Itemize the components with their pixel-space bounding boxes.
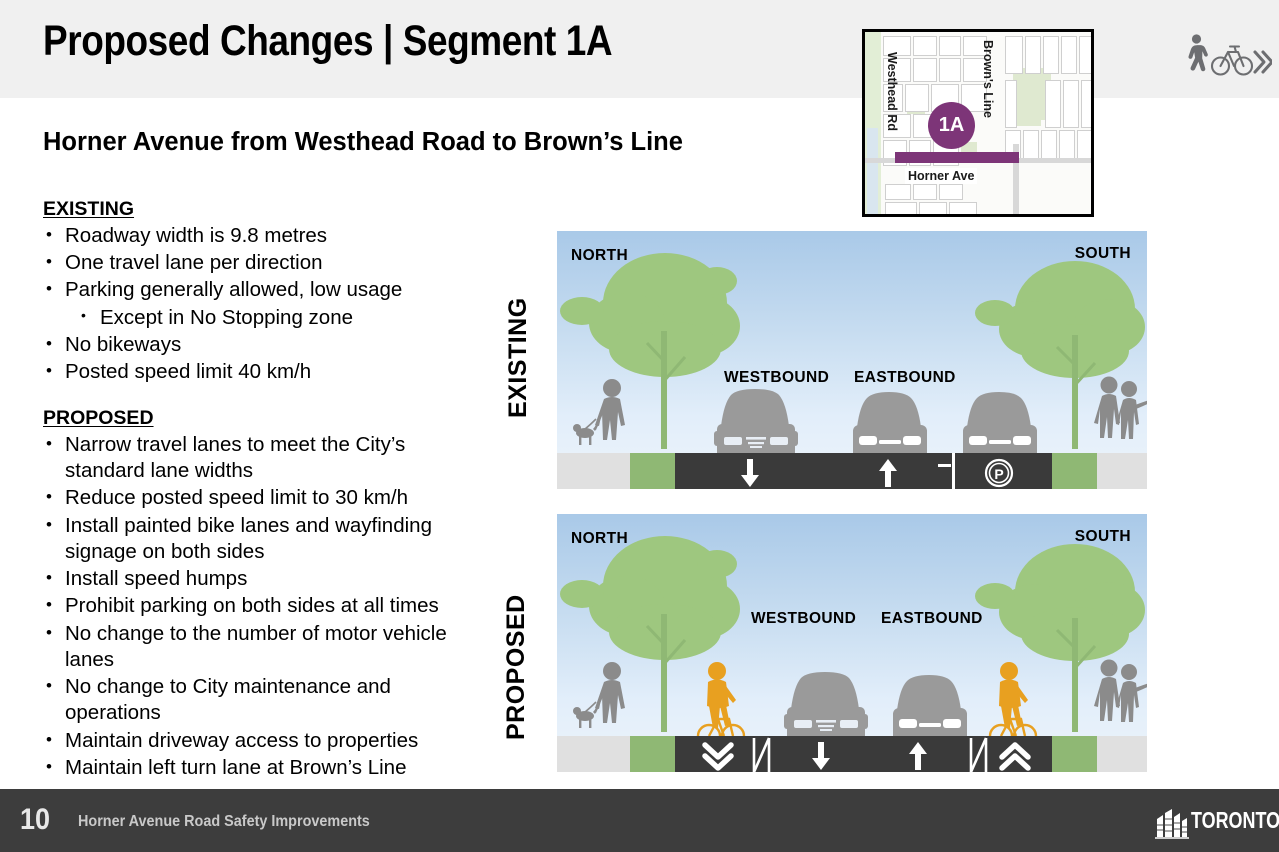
- bicycle-icon: [1212, 47, 1252, 75]
- buffer-hatch-icon: [971, 738, 986, 772]
- westbound-label: WESTBOUND: [751, 610, 856, 628]
- arrow-up-icon: [909, 742, 927, 770]
- list-item: Parking generally allowed, low usage: [43, 277, 473, 303]
- proposed-cross-section-figure: NORTH SOUTH WESTBOUND EASTBOUND: [557, 514, 1147, 772]
- list-item: No change to the number of motor vehicle…: [43, 621, 475, 673]
- mode-icons-group: [1186, 33, 1272, 83]
- arrow-down-icon: [812, 742, 830, 770]
- list-item: Maintain driveway access to properties: [43, 728, 475, 754]
- list-item: Maintain left turn lane at Brown’s Line: [43, 755, 475, 781]
- compass-north-label: NORTH: [571, 247, 628, 265]
- list-item: Narrow travel lanes to meet the City’s s…: [43, 432, 475, 484]
- segment-map-inset[interactable]: 1A Westhead Rd Brown's Line Horner Ave: [862, 29, 1094, 217]
- list-item: One travel lane per direction: [43, 250, 473, 276]
- map-label-browns-line: Brown's Line: [981, 40, 995, 118]
- compass-north-label: NORTH: [571, 530, 628, 548]
- toronto-towers-icon: [1157, 809, 1187, 837]
- eastbound-label: EASTBOUND: [854, 369, 956, 387]
- list-item: Install speed humps: [43, 566, 475, 592]
- map-label-horner: Horner Ave: [905, 168, 977, 184]
- svg-text:P: P: [994, 466, 1003, 482]
- segment-highlight-bar: [895, 152, 1019, 163]
- list-item: Prohibit parking on both sides at all ti…: [43, 593, 475, 619]
- bike-chevron-up-icon: [1002, 745, 1028, 768]
- list-item: No change to City maintenance and operat…: [43, 674, 475, 726]
- segment-badge: 1A: [928, 102, 975, 149]
- toronto-wordmark: TORONTO: [1191, 807, 1279, 834]
- list-item: Roadway width is 9.8 metres: [43, 223, 473, 249]
- arrow-up-icon: [879, 459, 897, 487]
- slide: Proposed Changes | Segment 1A: [0, 0, 1279, 852]
- map-label-westhead: Westhead Rd: [885, 52, 899, 131]
- proposed-figure-side-label: PROPOSED: [502, 570, 531, 740]
- footer-title: Horner Avenue Road Safety Improvements: [78, 813, 370, 831]
- arrow-down-icon: [741, 459, 759, 487]
- proposed-bullet-list: Narrow travel lanes to meet the City’s s…: [43, 432, 475, 782]
- westbound-label: WESTBOUND: [724, 369, 829, 387]
- list-item: Install painted bike lanes and wayfindin…: [43, 513, 475, 565]
- buffer-hatch-icon: [754, 738, 769, 772]
- existing-cross-section-figure: P NORTH SOUTH WESTBOUND EASTBOUND: [557, 231, 1147, 489]
- bike-chevron-down-icon: [705, 745, 731, 768]
- compass-south-label: SOUTH: [1075, 245, 1131, 263]
- list-item: Reduce posted speed limit to 30 km/h: [43, 485, 475, 511]
- pedestrian-icon: [1188, 34, 1207, 71]
- list-item: No bikeways: [43, 332, 473, 358]
- compass-south-label: SOUTH: [1075, 528, 1131, 546]
- proposed-heading: PROPOSED: [43, 407, 154, 430]
- footer-band: 10 Horner Avenue Road Safety Improvement…: [0, 789, 1279, 852]
- parking-p-icon: P: [986, 460, 1012, 486]
- map-canvas: 1A Westhead Rd Brown's Line Horner Ave: [865, 32, 1091, 214]
- toronto-logo: TORONTO: [1155, 805, 1263, 839]
- list-item: Except in No Stopping zone: [43, 305, 473, 331]
- eastbound-label: EASTBOUND: [881, 610, 983, 628]
- list-item: Posted speed limit 40 km/h: [43, 359, 473, 385]
- existing-heading: EXISTING: [43, 198, 134, 221]
- existing-bullet-list: Roadway width is 9.8 metres One travel l…: [43, 223, 473, 386]
- page-title: Proposed Changes | Segment 1A: [43, 20, 740, 63]
- double-chevron-icon: [1255, 52, 1272, 72]
- existing-figure-side-label: EXISTING: [504, 278, 533, 418]
- slide-number: 10: [20, 803, 50, 837]
- page-subtitle: Horner Avenue from Westhead Road to Brow…: [43, 128, 813, 157]
